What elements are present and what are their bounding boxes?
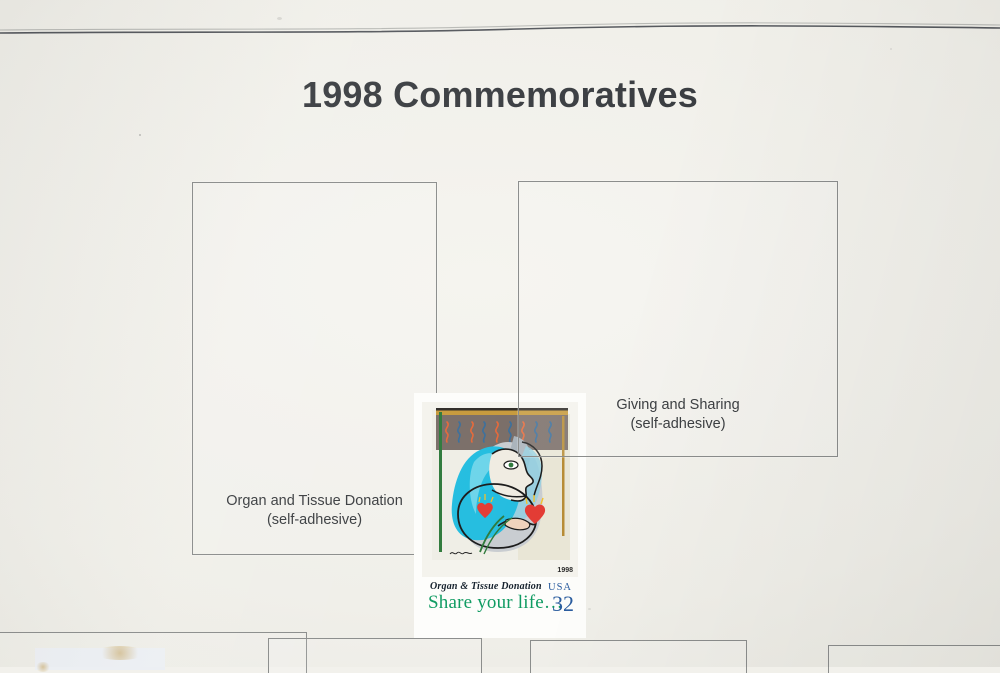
stamp-mount-next-row-2[interactable] — [268, 638, 482, 673]
page-top-rule — [0, 0, 1000, 50]
mount-caption-line1: Giving and Sharing — [519, 396, 837, 415]
dust-speck — [588, 608, 591, 610]
stamp-tagline: Share your life… — [428, 592, 563, 614]
paper-stain — [35, 662, 51, 672]
stamp-caption-organ: Organ & Tissue Donation Share your life…… — [422, 577, 578, 629]
stamp-subject-line: Organ & Tissue Donation — [430, 581, 542, 592]
mount-caption-line2: (self-adhesive) — [519, 415, 837, 434]
mount-caption-giving: Giving and Sharing (self-adhesive) — [519, 396, 837, 434]
stamp-year-organ: 1998 — [557, 567, 573, 574]
stamp-mount-next-row-4[interactable] — [828, 645, 1000, 673]
stamp-mount-organ-and-tissue-donation[interactable]: 1998 Organ & Tissue Donation Share your … — [192, 182, 437, 555]
page-title: 1998 Commemoratives — [0, 74, 1000, 116]
mount-caption-organ: Organ and Tissue Donation (self-adhesive… — [193, 492, 436, 530]
dust-speck — [139, 134, 141, 136]
mount-caption-line1: Organ and Tissue Donation — [193, 492, 436, 511]
mount-caption-line2: (self-adhesive) — [193, 511, 436, 530]
dust-speck — [890, 48, 892, 50]
stamp-denomination: 32 — [552, 591, 574, 617]
stamp-mount-giving-and-sharing[interactable]: GIVING & SHARING An American Tradition 3… — [518, 181, 838, 457]
paper-stain — [95, 646, 145, 660]
dust-speck — [277, 17, 282, 20]
stamp-mount-next-row-3[interactable] — [530, 640, 747, 673]
album-page: 1998 Commemoratives — [0, 0, 1000, 667]
